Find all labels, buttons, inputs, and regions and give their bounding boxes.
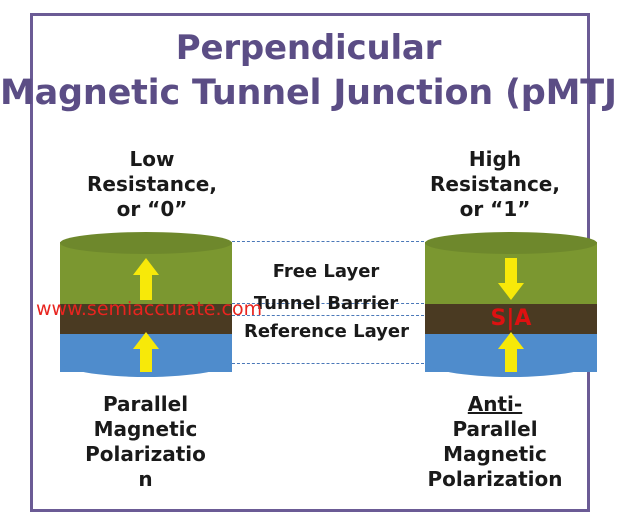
mtj-stack-antiparallel: S|A (425, 232, 597, 362)
left-heading-line-3: or “0” (52, 197, 252, 222)
right-stack-heading: High Resistance, or “1” (395, 147, 595, 222)
title-line-1: Perpendicular (0, 26, 617, 71)
right-caption-line-1: Anti- (405, 392, 585, 417)
right-caption-line-4: Polarization (405, 467, 585, 492)
left-stack-caption: Parallel Magnetic Polarizatio n (83, 392, 208, 492)
semiaccurate-barrier-mark: S|A (425, 308, 597, 330)
arrowhead-up (133, 332, 159, 349)
right-heading-line-3: or “1” (395, 197, 595, 222)
right-heading-line-1: High (395, 147, 595, 172)
arrowhead-up (133, 258, 159, 275)
leader-line-reference-bottom (232, 363, 424, 364)
right-stack-caption: Anti- Parallel Magnetic Polarization (405, 392, 585, 492)
right-caption-line-3: Magnetic (405, 442, 585, 467)
cylinder-top-cap-left (60, 232, 232, 254)
mtj-stack-parallel (60, 232, 232, 362)
diagram-canvas: Perpendicular Magnetic Tunnel Junction (… (0, 0, 617, 530)
page-title: Perpendicular Magnetic Tunnel Junction (… (0, 26, 617, 116)
left-stack-heading: Low Resistance, or “0” (52, 147, 252, 222)
left-caption-line-4: n (83, 467, 208, 492)
left-caption-line-2: Magnetic (83, 417, 208, 442)
leader-line-free-top (232, 241, 424, 242)
arrow-shaft (140, 274, 152, 300)
arrowhead-up (498, 332, 524, 349)
arrow-shaft (505, 348, 517, 372)
left-caption-line-1: Parallel (83, 392, 208, 417)
callout-free-layer: Free Layer (231, 262, 421, 282)
watermark-text: www.semiaccurate.com (36, 298, 262, 320)
left-heading-line-2: Resistance, (52, 172, 252, 197)
arrow-shaft (140, 348, 152, 372)
left-caption-line-3: Polarizatio (83, 442, 208, 467)
right-caption-line-2: Parallel (405, 417, 585, 442)
arrowhead-down (498, 283, 524, 300)
left-heading-line-1: Low (52, 147, 252, 172)
right-heading-line-2: Resistance, (395, 172, 595, 197)
callout-reference-layer: Reference Layer (224, 322, 429, 342)
title-line-2: Magnetic Tunnel Junction (pMTJ) (0, 71, 617, 116)
cylinder-top-cap-right (425, 232, 597, 254)
arrow-shaft (505, 258, 517, 284)
